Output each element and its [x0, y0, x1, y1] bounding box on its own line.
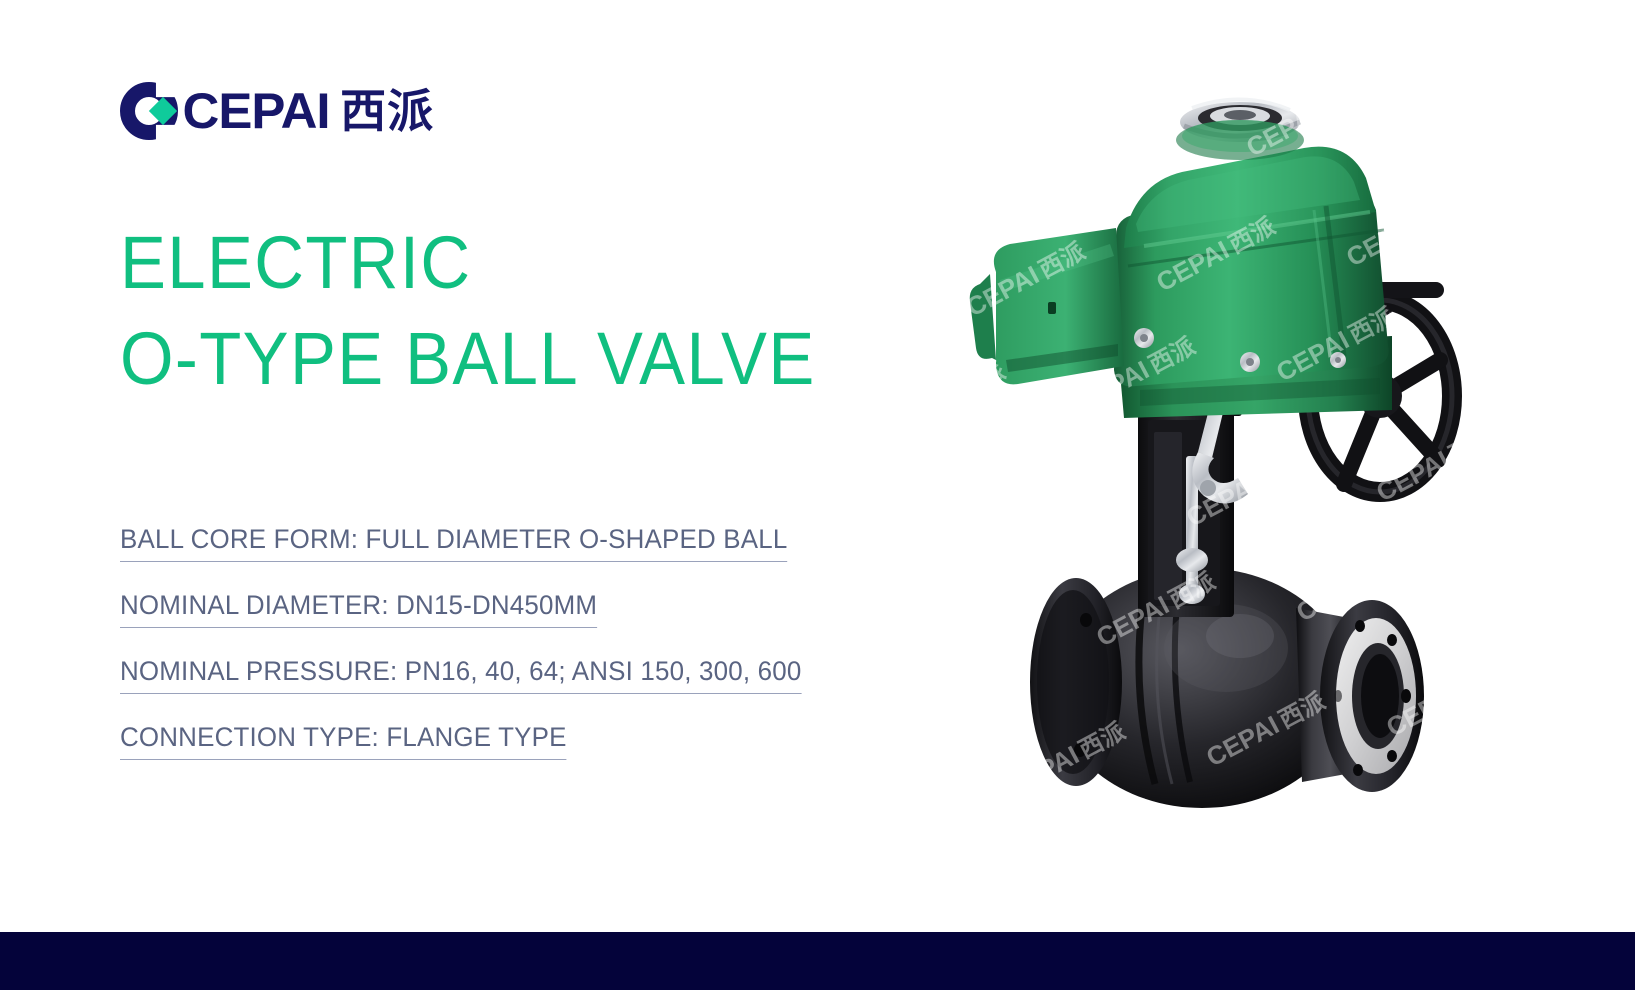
footer-bar [0, 932, 1635, 990]
electric-actuator [970, 99, 1392, 418]
page-title: ELECTRIC O-TYPE BALL VALVE [120, 215, 1020, 407]
spec-item-ball-core-form: BALL CORE FORM: FULL DIAMETER O-SHAPED B… [120, 524, 787, 562]
page-title-line-1: ELECTRIC [120, 215, 957, 311]
specification-list: BALL CORE FORM: FULL DIAMETER O-SHAPED B… [120, 524, 1000, 788]
right-flange [1296, 600, 1424, 792]
logo-c-icon [120, 82, 182, 140]
flange-bolt-hole [1355, 620, 1365, 632]
spec-item-connection-type: CONNECTION TYPE: FLANGE TYPE [120, 722, 567, 760]
flange-bolt-hole [1387, 634, 1397, 646]
left-flange [1030, 578, 1122, 786]
vent-slot [1048, 302, 1056, 314]
logo-wordmark-chinese: 西派 [340, 88, 434, 134]
brand-logo: CEPAI 西派 [120, 82, 434, 140]
mounting-bracket [1132, 398, 1242, 617]
flange-bolt-hole [1387, 750, 1397, 762]
slide-canvas: CEPAI 西派 ELECTRIC O-TYPE BALL VALVE BALL… [0, 0, 1635, 990]
stem-nut [1176, 548, 1208, 572]
flange-bolt-hole [1353, 764, 1363, 776]
flange-bolt-hole [1401, 689, 1411, 703]
logo-wordmark-latin: CEPAI [183, 86, 330, 136]
spec-item-nominal-diameter: NOMINAL DIAMETER: DN15-DN450MM [120, 590, 597, 628]
product-image [940, 60, 1500, 860]
page-title-line-2: O-TYPE BALL VALVE [120, 311, 957, 407]
spec-item-nominal-pressure: NOMINAL PRESSURE: PN16, 40, 64; ANSI 150… [120, 656, 801, 694]
